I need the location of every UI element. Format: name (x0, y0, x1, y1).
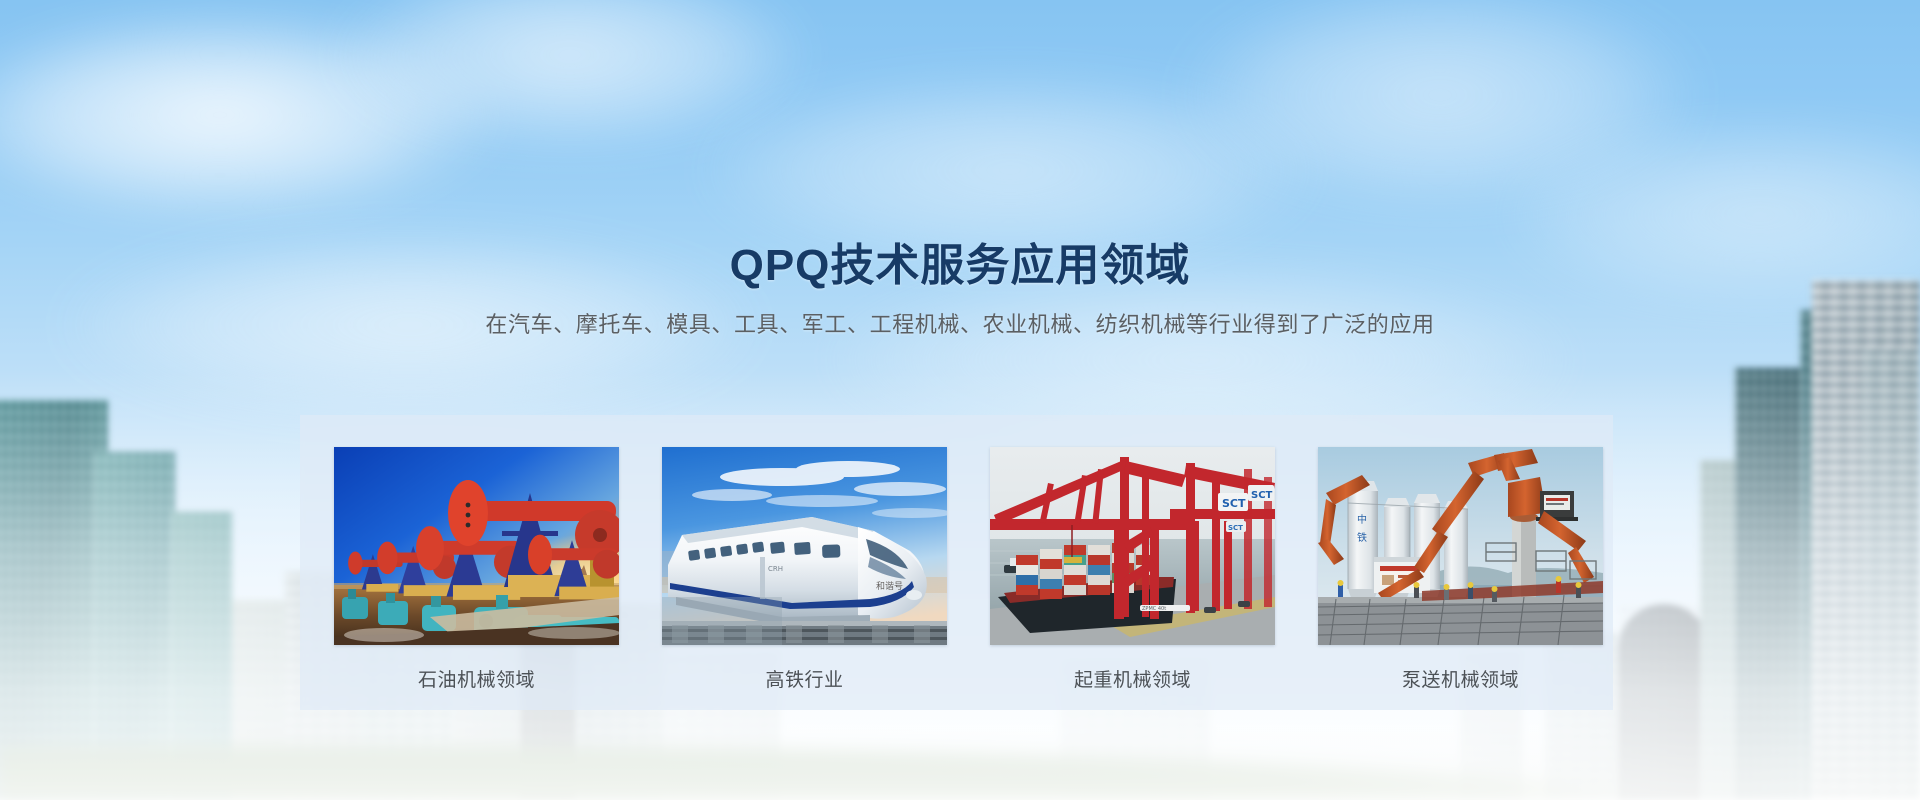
svg-text:CRH: CRH (768, 565, 783, 573)
svg-text:SCT: SCT (1251, 490, 1273, 501)
svg-text:中: 中 (1357, 513, 1367, 526)
concrete-pumping-silos-photo[interactable]: 中 铁 (1318, 447, 1603, 645)
list-item[interactable]: 石油机械领域 (334, 447, 619, 692)
svg-text:ZPMC 40t: ZPMC 40t (1142, 606, 1166, 612)
list-item[interactable]: 中 铁 (1318, 447, 1603, 692)
oil-pumpjacks-sunset-photo[interactable] (334, 447, 619, 645)
svg-text:SCT: SCT (1222, 497, 1246, 510)
headline-block: QPQ技术服务应用领域 在汽车、摩托车、模具、工具、军工、工程机械、农业机械、纺… (0, 238, 1920, 342)
application-fields-panel: 石油机械领域 (300, 415, 1613, 710)
high-speed-train-crh-photo[interactable]: 和谐号 CRH (662, 447, 947, 645)
page-title: QPQ技术服务应用领域 (0, 238, 1920, 294)
card-caption: 高铁行业 (662, 665, 947, 692)
svg-text:和谐号: 和谐号 (876, 581, 903, 592)
card-caption: 石油机械领域 (334, 665, 619, 692)
svg-text:SCT: SCT (1228, 524, 1243, 532)
card-list: 石油机械领域 (334, 447, 1603, 692)
svg-text:铁: 铁 (1357, 531, 1367, 544)
page-subtitle: 在汽车、摩托车、模具、工具、军工、工程机械、农业机械、纺织机械等行业得到了广泛的… (0, 308, 1920, 342)
card-caption: 泵送机械领域 (1318, 665, 1603, 692)
list-item[interactable]: 和谐号 CRH (662, 447, 947, 692)
list-item[interactable]: SCT SCT SCT ZPMC 40t 起重机械领域 (990, 447, 1275, 692)
port-gantry-cranes-photo[interactable]: SCT SCT SCT ZPMC 40t (990, 447, 1275, 645)
card-caption: 起重机械领域 (990, 665, 1275, 692)
